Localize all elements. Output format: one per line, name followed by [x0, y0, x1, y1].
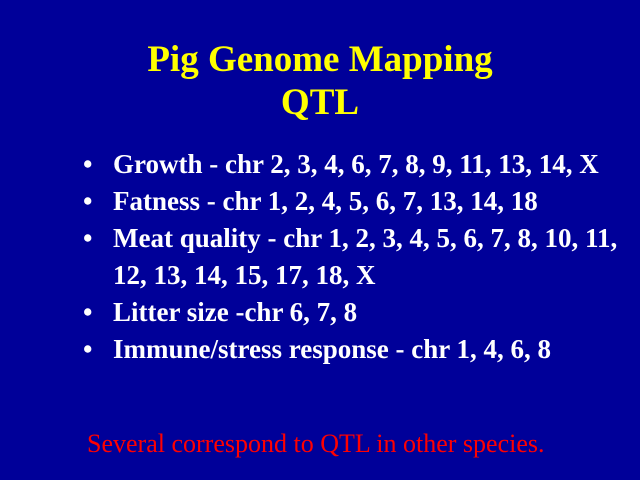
bullet-point-icon: • [83, 220, 97, 257]
list-item-label: Litter size -chr 6, 7, 8 [113, 294, 634, 331]
bullet-point-icon: • [83, 331, 97, 368]
list-item-label: Meat quality - chr 1, 2, 3, 4, 5, 6, 7, … [113, 220, 634, 294]
slide-bullet-list: • Growth - chr 2, 3, 4, 6, 7, 8, 9, 11, … [0, 146, 640, 368]
list-item-label: Fatness - chr 1, 2, 4, 5, 6, 7, 13, 14, … [113, 183, 634, 220]
list-item: • Immune/stress response - chr 1, 4, 6, … [0, 331, 640, 368]
list-item-label: Growth - chr 2, 3, 4, 6, 7, 8, 9, 11, 13… [113, 146, 634, 183]
list-item-label: Immune/stress response - chr 1, 4, 6, 8 [113, 331, 634, 368]
slide-title-line-2: QTL [0, 81, 640, 124]
presentation-slide: Pig Genome Mapping QTL • Growth - chr 2,… [0, 0, 640, 480]
list-item: • Growth - chr 2, 3, 4, 6, 7, 8, 9, 11, … [0, 146, 640, 183]
bullet-point-icon: • [83, 294, 97, 331]
bullet-point-icon: • [83, 146, 97, 183]
list-item: • Fatness - chr 1, 2, 4, 5, 6, 7, 13, 14… [0, 183, 640, 220]
slide-title-line-1: Pig Genome Mapping [0, 38, 640, 81]
bullet-point-icon: • [83, 183, 97, 220]
list-item: • Meat quality - chr 1, 2, 3, 4, 5, 6, 7… [0, 220, 640, 294]
slide-title: Pig Genome Mapping QTL [0, 38, 640, 124]
list-item: • Litter size -chr 6, 7, 8 [0, 294, 640, 331]
slide-footer-note: Several correspond to QTL in other speci… [87, 428, 545, 459]
